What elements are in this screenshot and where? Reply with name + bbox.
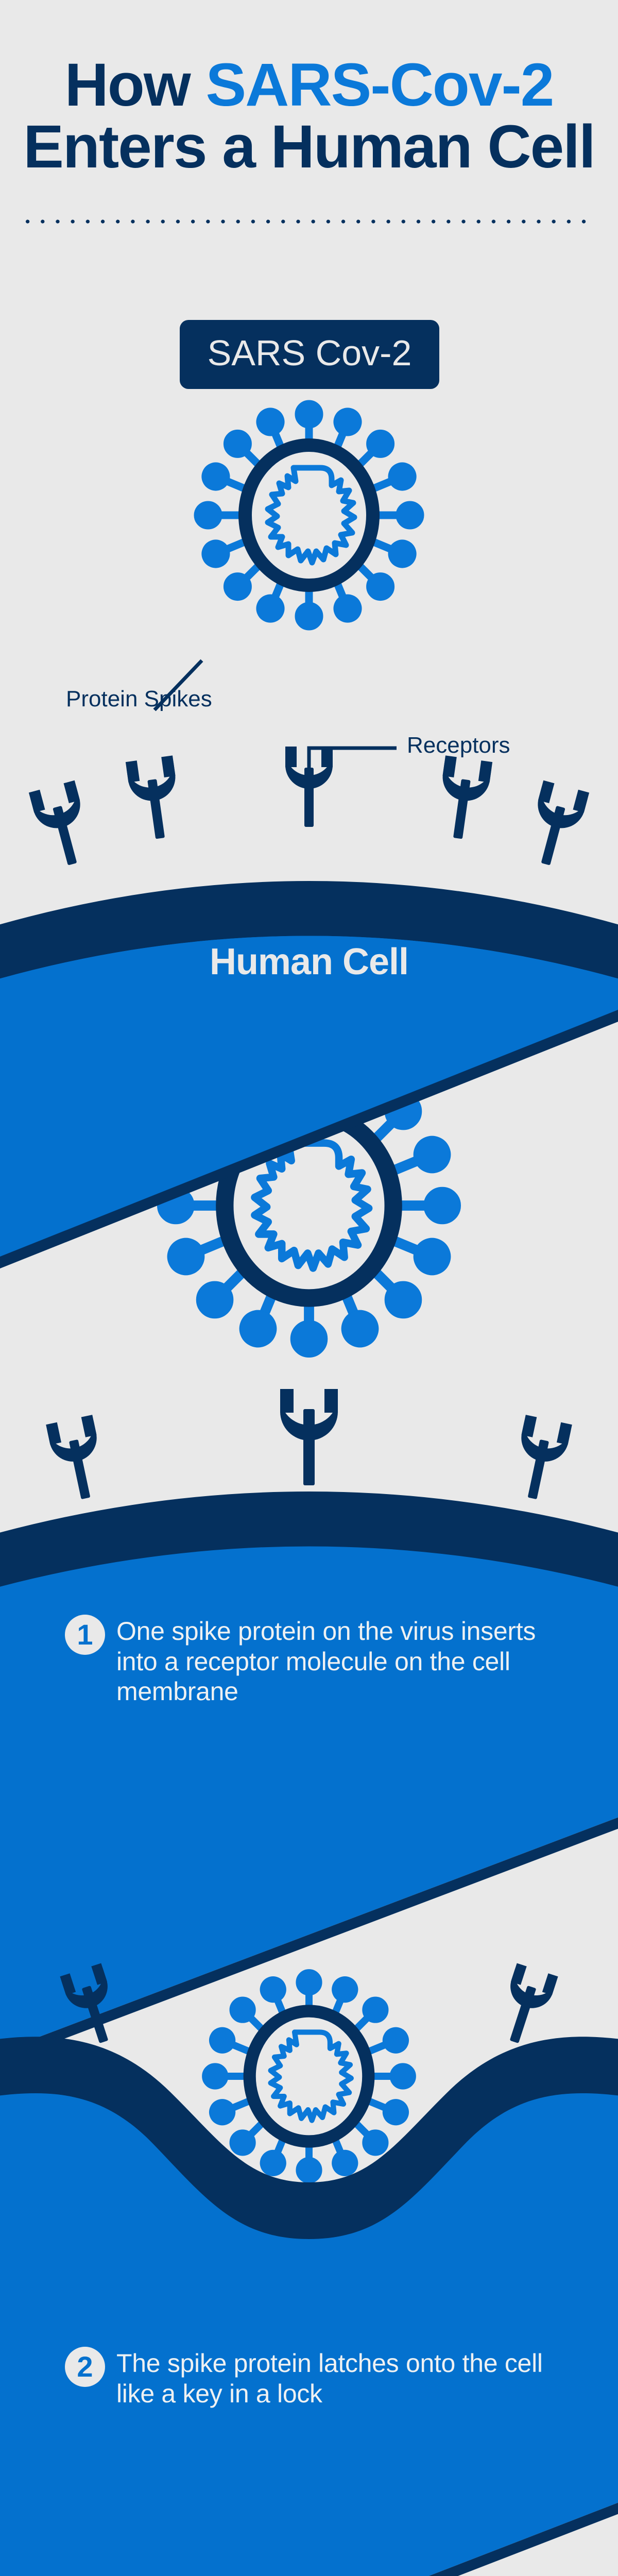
page-title: How SARS-Cov-2 Enters a Human Cell [0,54,618,178]
step-1: 1 One spike protein on the virus inserts… [65,1615,549,1707]
sars-cov-2-badge: SARS Cov-2 [180,320,439,389]
infographic-root: How SARS-Cov-2 Enters a Human Cell SARS … [0,0,618,2576]
step-1-number: 1 [65,1615,105,1655]
protein-spikes-label: Protein Spikes [66,686,212,712]
step-1-text: One spike protein on the virus inserts i… [116,1615,549,1707]
step-2-text: The spike protein latches onto the cell … [116,2347,549,2409]
title-accent: SARS-Cov-2 [205,51,553,119]
sars-cov-2-badge-label: SARS Cov-2 [208,335,412,374]
dotted-divider [26,218,595,225]
title-line-1: How SARS-Cov-2 [0,54,618,116]
title-plain: How [65,51,206,119]
step-2: 2 The spike protein latches onto the cel… [65,2347,549,2409]
title-line-2: Enters a Human Cell [0,116,618,178]
docked-spike-stem-step2 [303,2182,315,2239]
human-cell-label: Human Cell [0,941,618,983]
receptors-label: Receptors [407,733,510,758]
step-2-number: 2 [65,2347,105,2387]
